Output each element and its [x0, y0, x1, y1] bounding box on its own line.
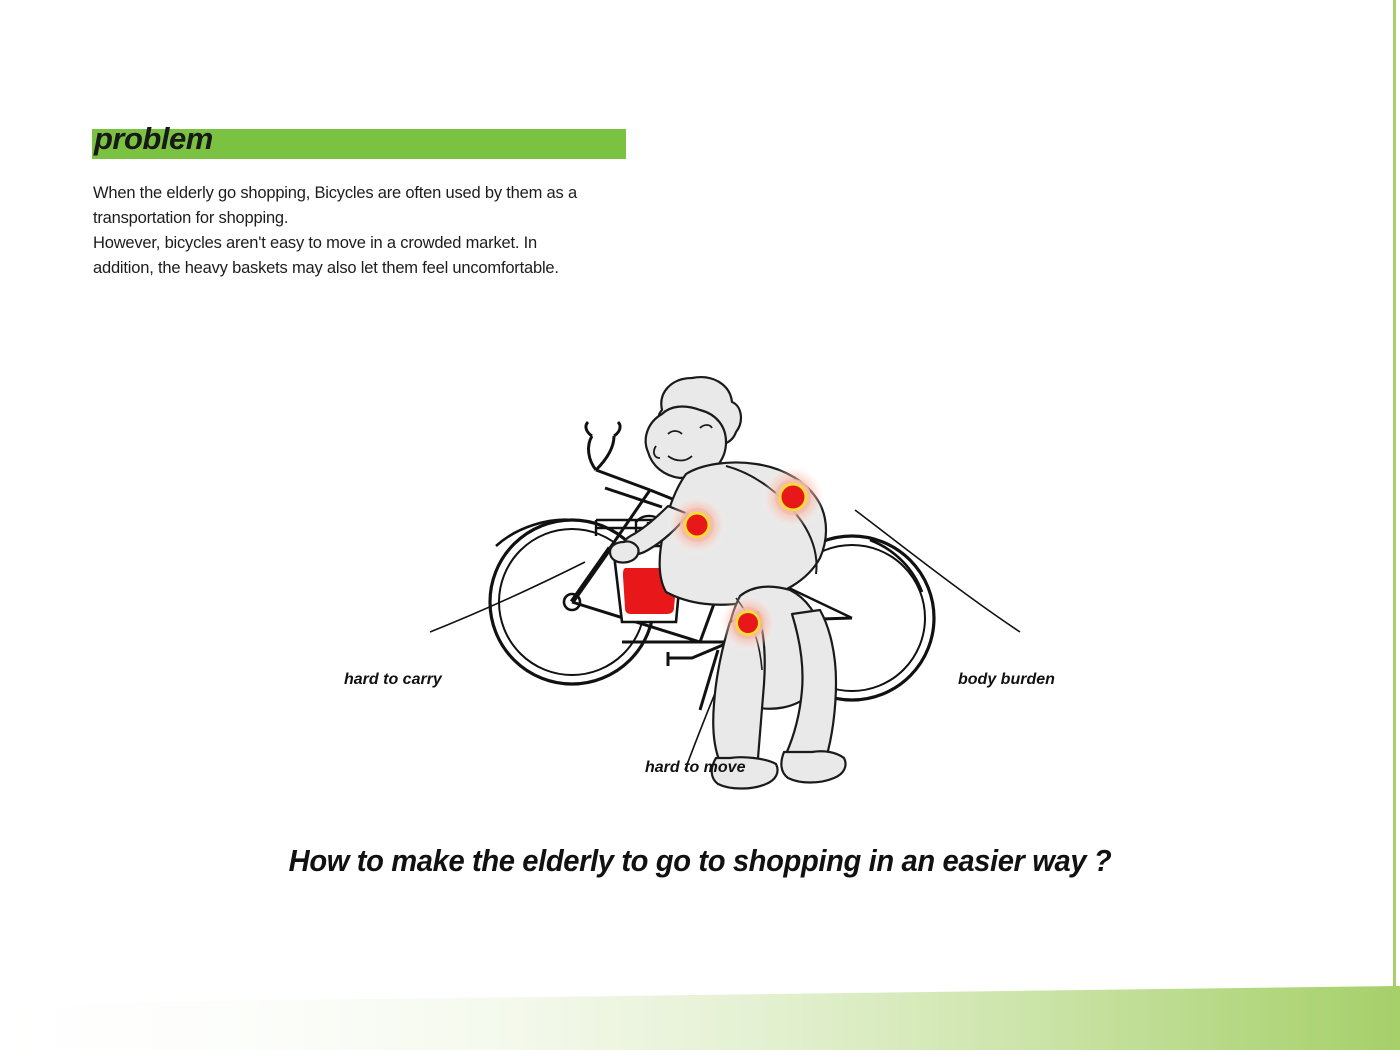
- bicycle-illustration: [400, 370, 1040, 790]
- design-question: How to make the elderly to go to shoppin…: [42, 843, 1358, 879]
- pain-indicator-lower-back: [761, 465, 825, 529]
- footer-gradient-band: [0, 970, 1400, 1050]
- description-line-1: When the elderly go shopping, Bicycles a…: [93, 181, 653, 206]
- callout-hard-to-carry: hard to carry: [344, 671, 442, 689]
- pain-indicator-knee: [719, 594, 777, 652]
- slide-page: problem When the elderly go shopping, Bi…: [0, 0, 1400, 1050]
- section-heading: problem: [92, 129, 626, 159]
- description-line-4: addition, the heavy baskets may also let…: [93, 256, 653, 281]
- description-line-2: transportation for shopping.: [93, 206, 653, 231]
- callout-hard-to-move: hard to move: [645, 759, 745, 777]
- callout-body-burden: body burden: [958, 671, 1055, 689]
- description-line-3: However, bicycles aren't easy to move in…: [93, 231, 653, 256]
- right-edge-accent-rule: [1393, 0, 1396, 1050]
- heading-label: problem: [94, 119, 213, 159]
- problem-description: When the elderly go shopping, Bicycles a…: [93, 181, 653, 281]
- hand: [610, 541, 639, 562]
- back-foot: [781, 751, 845, 782]
- pain-indicator-hand: [667, 495, 727, 555]
